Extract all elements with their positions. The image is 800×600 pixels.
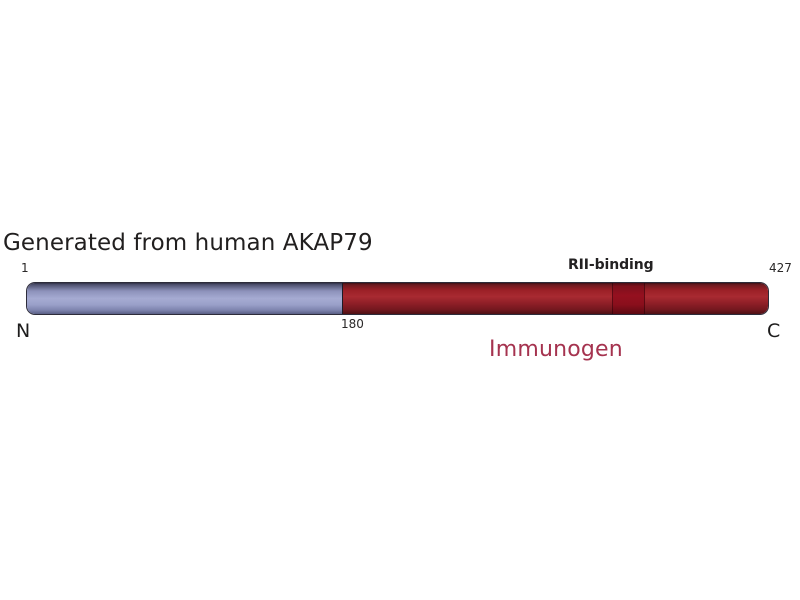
page-title: Generated from human AKAP79: [3, 229, 373, 257]
figure-canvas: Generated from human AKAP79 1 427 RII-bi…: [0, 0, 800, 600]
residue-boundary-label: 180: [341, 317, 364, 331]
residue-end-label: 427: [769, 261, 792, 275]
residue-start-label: 1: [21, 261, 29, 275]
protein-domain-bar: [27, 283, 768, 314]
immunogen-segment: [342, 283, 768, 314]
segment-divider: [342, 283, 343, 314]
rii-binding-domain-block: [612, 283, 645, 314]
immunogen-label: Immunogen: [489, 337, 623, 363]
c-terminus-label: C: [767, 320, 780, 342]
n-terminal-segment: [27, 283, 342, 314]
n-terminus-label: N: [16, 320, 30, 342]
rii-binding-domain-label: RII-binding: [568, 257, 654, 273]
